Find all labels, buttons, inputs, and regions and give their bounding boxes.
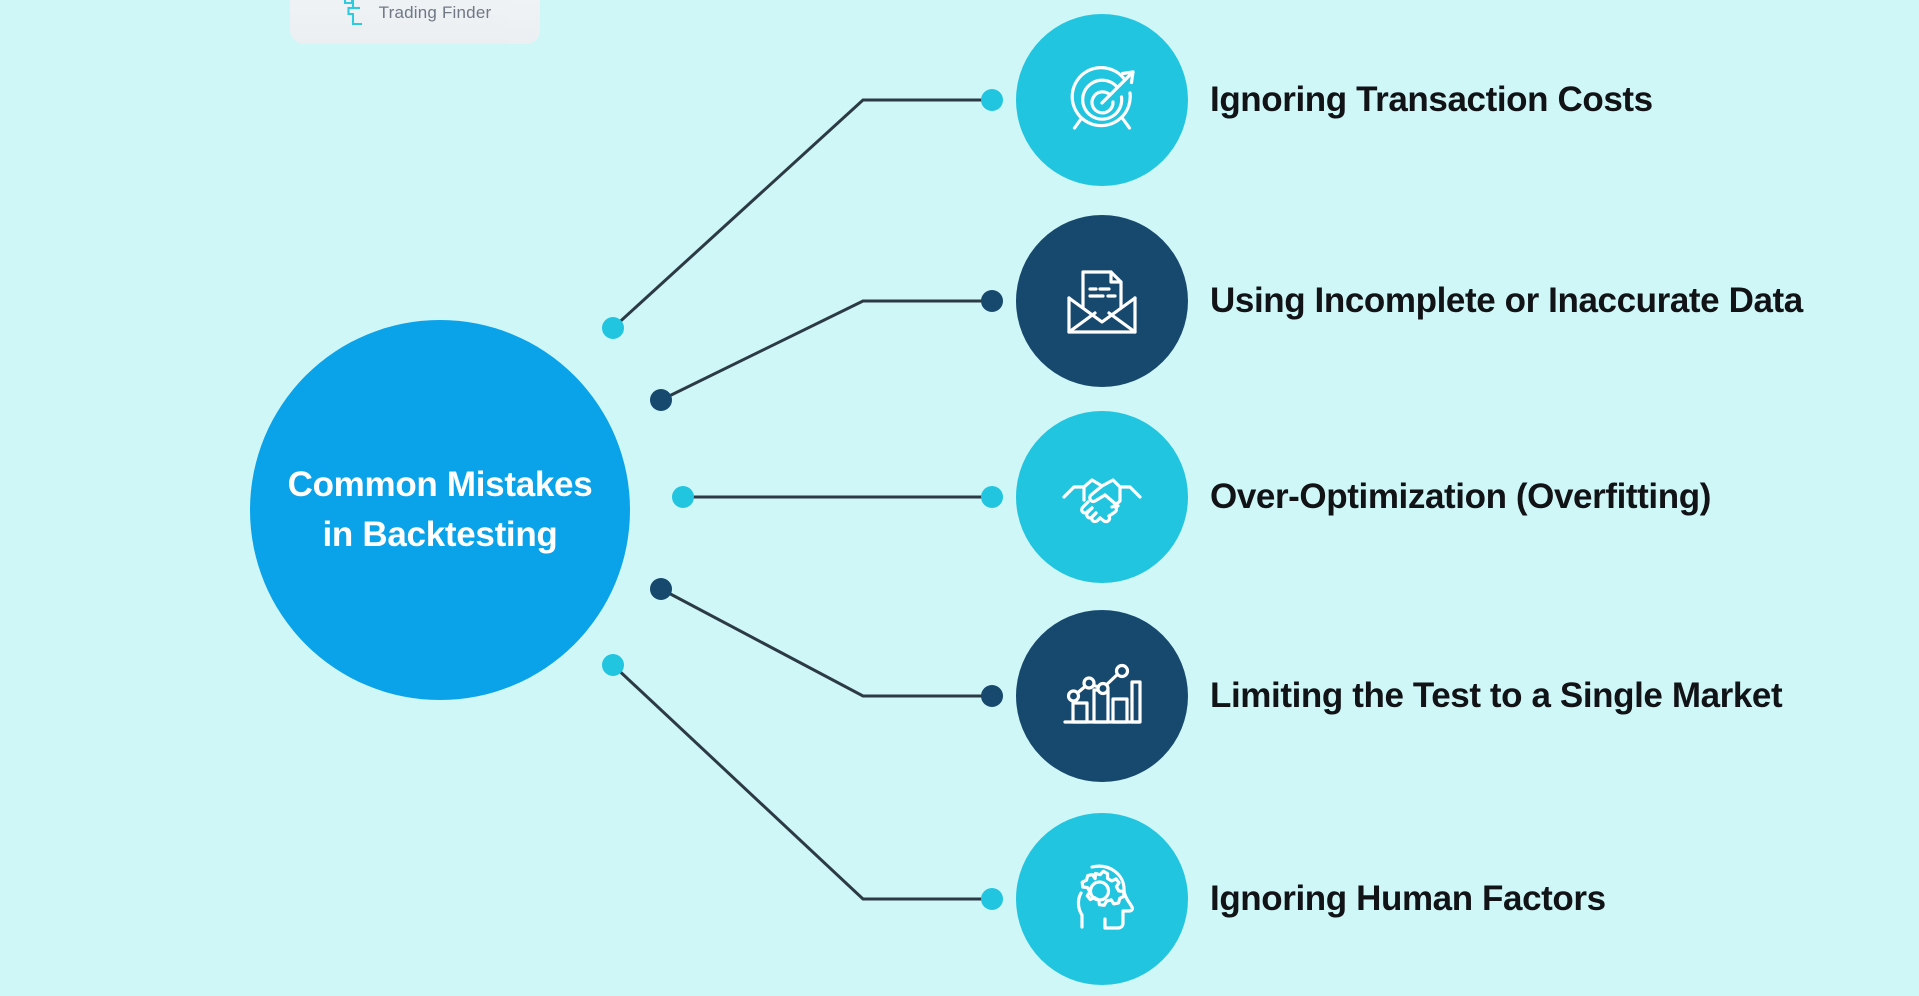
branch-label-3: Over-Optimization (Overfitting): [1210, 477, 1711, 517]
watermark-logo-panel: Trading Finder: [290, 0, 540, 44]
head-gear-icon: [1058, 855, 1146, 943]
branch-item-5[interactable]: Ignoring Human Factors: [1016, 813, 1606, 985]
icon-circle-2: [1016, 215, 1188, 387]
connector-dot-node-5: [981, 888, 1003, 910]
branch-item-3[interactable]: Over-Optimization (Overfitting): [1016, 411, 1711, 583]
connector-dot-hub-2: [650, 389, 672, 411]
connector-dot-hub-1: [602, 317, 624, 339]
hub-title-line-1: Common Mistakes: [288, 460, 593, 510]
branch-label-2: Using Incomplete or Inaccurate Data: [1210, 281, 1803, 321]
hub-circle: Common Mistakes in Backtesting: [250, 320, 630, 700]
connector-line-2: [661, 301, 992, 400]
connector-dots: [602, 89, 1003, 910]
hub-title-line-2: in Backtesting: [322, 510, 557, 560]
branch-item-2[interactable]: Using Incomplete or Inaccurate Data: [1016, 215, 1803, 387]
connector-dot-node-4: [981, 685, 1003, 707]
connector-line-5: [613, 665, 992, 899]
connector-line-4: [661, 589, 992, 696]
icon-circle-3: [1016, 411, 1188, 583]
icon-circle-5: [1016, 813, 1188, 985]
bar-chart-trend-icon: [1058, 652, 1146, 740]
branch-item-4[interactable]: Limiting the Test to a Single Market: [1016, 610, 1782, 782]
connector-dot-hub-5: [602, 654, 624, 676]
icon-circle-4: [1016, 610, 1188, 782]
connector-dot-node-3: [981, 486, 1003, 508]
connector-dot-node-2: [981, 290, 1003, 312]
branch-label-4: Limiting the Test to a Single Market: [1210, 676, 1782, 716]
branch-label-5: Ignoring Human Factors: [1210, 879, 1606, 919]
connector-line-1: [613, 100, 992, 328]
branch-label-1: Ignoring Transaction Costs: [1210, 80, 1653, 120]
icon-circle-1: [1016, 14, 1188, 186]
connector-dot-node-1: [981, 89, 1003, 111]
handshake-icon: [1058, 453, 1146, 541]
connector-dot-hub-4: [650, 578, 672, 600]
target-arrow-icon: [1059, 57, 1145, 143]
branch-item-1[interactable]: Ignoring Transaction Costs: [1016, 14, 1653, 186]
envelope-document-icon: [1059, 258, 1145, 344]
connector-dot-hub-3: [672, 486, 694, 508]
infographic-canvas: Trading Finder: [0, 0, 1919, 996]
trading-finder-logo-icon: [339, 0, 369, 33]
brand-name: Trading Finder: [379, 3, 492, 23]
